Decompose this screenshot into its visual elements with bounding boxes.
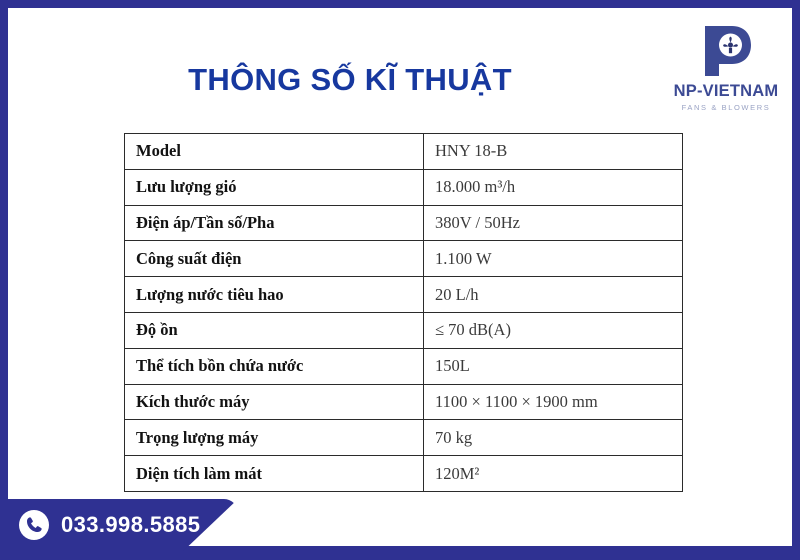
logo-tagline: FANS & BLOWERS	[658, 103, 794, 112]
brand-logo: NP-VIETNAM FANS & BLOWERS	[658, 24, 794, 112]
spec-value: HNY 18-B	[424, 134, 683, 170]
spec-value: 70 kg	[424, 420, 683, 456]
spec-label: Lượng nước tiêu hao	[125, 277, 424, 313]
table-row: Diện tích làm mát 120M²	[125, 456, 683, 492]
table-row: Thể tích bồn chứa nước 150L	[125, 348, 683, 384]
phone-number: 033.998.5885	[61, 512, 200, 538]
table-row: Lưu lượng gió 18.000 m³/h	[125, 169, 683, 205]
spec-value: 20 L/h	[424, 277, 683, 313]
spec-value: 380V / 50Hz	[424, 205, 683, 241]
table-row: Độ ồn ≤ 70 dB(A)	[125, 312, 683, 348]
spec-value: 18.000 m³/h	[424, 169, 683, 205]
frame-border-left	[0, 0, 8, 560]
slide-canvas: THÔNG SỐ KĨ THUẬT NP-VIETNAM FANS & BLOW…	[0, 0, 800, 560]
table-row: Lượng nước tiêu hao 20 L/h	[125, 277, 683, 313]
phone-icon	[18, 509, 50, 541]
logo-name: NP-VIETNAM	[658, 82, 794, 100]
frame-border-top	[0, 0, 800, 8]
phone-contact-banner: 033.998.5885	[0, 499, 238, 551]
spec-label: Diện tích làm mát	[125, 456, 424, 492]
spec-table-body: Model HNY 18-B Lưu lượng gió 18.000 m³/h…	[125, 134, 683, 492]
table-row: Điện áp/Tần số/Pha 380V / 50Hz	[125, 205, 683, 241]
specifications-table: Model HNY 18-B Lưu lượng gió 18.000 m³/h…	[124, 133, 683, 492]
spec-label: Trọng lượng máy	[125, 420, 424, 456]
spec-label: Công suất điện	[125, 241, 424, 277]
page-title: THÔNG SỐ KĨ THUẬT	[60, 62, 640, 98]
table-row: Kích thước máy 1100 × 1100 × 1900 mm	[125, 384, 683, 420]
spec-label: Độ ồn	[125, 312, 424, 348]
table-row: Model HNY 18-B	[125, 134, 683, 170]
spec-value: ≤ 70 dB(A)	[424, 312, 683, 348]
spec-label: Lưu lượng gió	[125, 169, 424, 205]
spec-value: 1.100 W	[424, 241, 683, 277]
spec-label: Điện áp/Tần số/Pha	[125, 205, 424, 241]
spec-value: 1100 × 1100 × 1900 mm	[424, 384, 683, 420]
spec-value: 150L	[424, 348, 683, 384]
spec-label: Model	[125, 134, 424, 170]
table-row: Trọng lượng máy 70 kg	[125, 420, 683, 456]
spec-value: 120M²	[424, 456, 683, 492]
table-row: Công suất điện 1.100 W	[125, 241, 683, 277]
spec-label: Thể tích bồn chứa nước	[125, 348, 424, 384]
spec-label: Kích thước máy	[125, 384, 424, 420]
p-fan-logo-icon	[699, 24, 753, 78]
